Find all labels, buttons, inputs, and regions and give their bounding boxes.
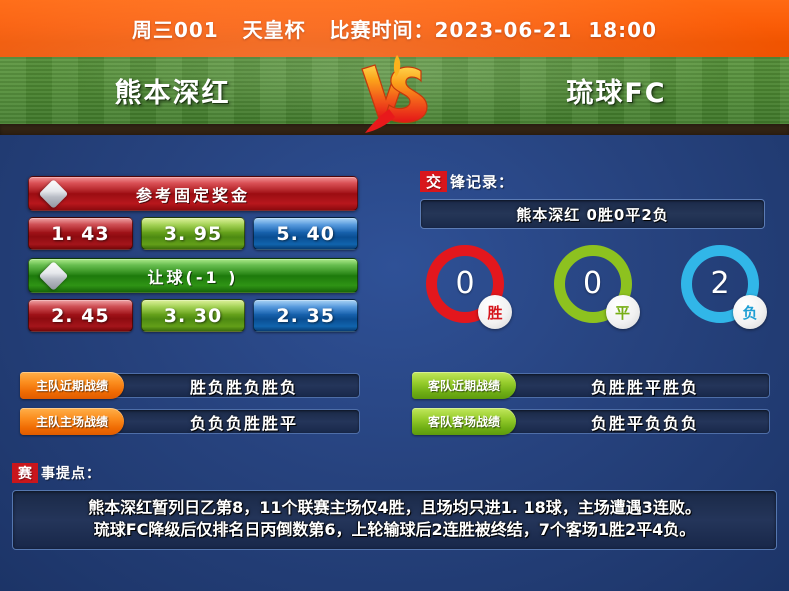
vs-icon [345,50,445,138]
match-notes: 赛 事提点： 熊本深红暂列日乙第8，11个联赛主场仅4胜，且场均只进1. 18球… [12,462,777,550]
handicap-odd-home-value: 2. 45 [51,305,110,327]
home-recent-form-row: 胜负胜负胜负 主队近期战绩 [20,372,360,399]
home-team-name: 熊本深红 [0,57,345,124]
away-team-name: 琉球FC [444,57,789,124]
handicap-odd-away-value: 2. 35 [276,305,335,327]
record-win-count: 0 [455,269,474,299]
header-bar: 周三001 天皇杯 比赛时间：2023-06-21 18:00 [0,0,789,57]
fixed-odd-draw-value: 3. 95 [164,223,223,245]
odds-panel: 参考固定奖金 1. 43 3. 95 5. 40 让球(-1 ) 2. 45 3… [28,176,358,332]
record-loss-count: 2 [710,269,729,299]
handicap-odd-home[interactable]: 2. 45 [28,299,133,332]
fixed-odd-draw[interactable]: 3. 95 [141,217,246,250]
home-home-form-row: 负负负胜胜平 主队主场战绩 [20,408,360,435]
away-recent-form-row: 负胜胜平胜负 客队近期战绩 [412,372,770,399]
away-away-form-row: 负胜平负负负 客队客场战绩 [412,408,770,435]
away-away-form-value: 负胜平负负负 [490,409,770,434]
fixed-odd-away-value: 5. 40 [276,223,335,245]
home-recent-form-tag: 主队近期战绩 [20,372,124,399]
home-home-form-tag: 主队主场战绩 [20,408,124,435]
fixed-odd-home-value: 1. 43 [51,223,110,245]
away-recent-form-value: 负胜胜平胜负 [490,373,770,398]
match-header-text: 周三001 天皇杯 比赛时间：2023-06-21 18:00 [0,0,789,57]
away-form-list: 负胜胜平胜负 客队近期战绩 负胜平负负负 客队客场战绩 [412,372,770,444]
match-notes-box: 熊本深红暂列日乙第8，11个联赛主场仅4胜，且场均只进1. 18球，主场遭遇3连… [12,490,777,550]
record-pin-loss: 负 [733,295,767,329]
record-circle-draw: 0 平 [554,245,632,323]
away-recent-form-tag: 客队近期战绩 [412,372,516,399]
handicap-banner-label: 让球(-1 ) [148,264,239,288]
fixed-odd-home[interactable]: 1. 43 [28,217,133,250]
record-pin-draw: 平 [606,295,640,329]
head-to-head-circles: 0 胜 0 平 2 负 [420,245,765,323]
handicap-odds-row: 2. 45 3. 30 2. 35 [28,299,358,332]
odds-spacer [28,250,358,258]
fixed-odd-away[interactable]: 5. 40 [253,217,358,250]
head-to-head-title: 锋记录： [450,171,514,192]
head-to-head-summary: 熊本深红 0胜0平2负 [420,199,765,229]
match-notes-line-2: 琉球FC降级后仅排名日丙倒数第6，上轮输球后2连胜被终结，7个客场1胜2平4负。 [21,519,768,541]
record-pin-win: 胜 [478,295,512,329]
record-circle-win: 0 胜 [426,245,504,323]
home-form-list: 胜负胜负胜负 主队近期战绩 负负负胜胜平 主队主场战绩 [20,372,360,444]
match-notes-badge: 赛 [12,463,38,483]
home-recent-form-value: 胜负胜负胜负 [98,373,360,398]
head-to-head-panel: 交 锋记录： 熊本深红 0胜0平2负 0 胜 0 平 2 负 [420,170,765,323]
head-to-head-heading: 交 锋记录： [420,170,765,192]
fixed-odds-row: 1. 43 3. 95 5. 40 [28,217,358,250]
head-to-head-badge: 交 [420,171,447,192]
away-away-form-tag: 客队客场战绩 [412,408,516,435]
match-notes-heading: 赛 事提点： [12,462,777,484]
fixed-odds-banner-label: 参考固定奖金 [136,182,250,206]
match-notes-line-1: 熊本深红暂列日乙第8，11个联赛主场仅4胜，且场均只进1. 18球，主场遭遇3连… [21,497,768,519]
handicap-odd-away[interactable]: 2. 35 [253,299,358,332]
home-home-form-value: 负负负胜胜平 [98,409,360,434]
fixed-odds-banner: 参考固定奖金 [28,176,358,211]
diamond-icon [39,261,69,291]
handicap-odd-draw[interactable]: 3. 30 [141,299,246,332]
record-draw-count: 0 [583,269,602,299]
record-circle-loss: 2 负 [681,245,759,323]
match-preview-card: 周三001 天皇杯 比赛时间：2023-06-21 18:00 熊本深红 琉球F… [0,0,789,591]
handicap-banner: 让球(-1 ) [28,258,358,293]
handicap-odd-draw-value: 3. 30 [164,305,223,327]
diamond-icon [39,179,69,209]
match-notes-title: 事提点： [41,463,101,483]
